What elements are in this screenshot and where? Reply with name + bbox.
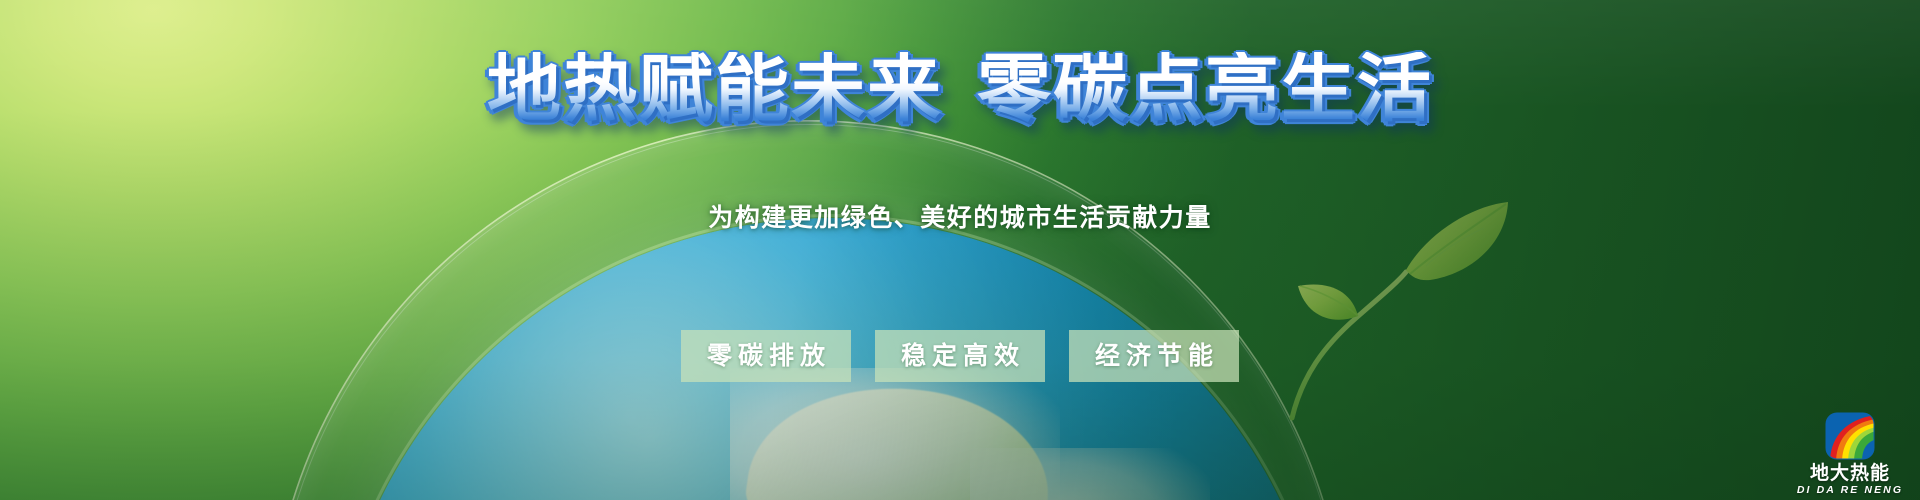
status-badge-economical-energy-saving[interactable]: 经济节能 [1069, 330, 1239, 382]
status-badge-zero-carbon[interactable]: 零碳排放 [681, 330, 851, 382]
status-badge-stable-efficient[interactable]: 稳定高效 [875, 330, 1045, 382]
page-title: 地热赋能未来零碳点亮生活 [0, 52, 1920, 126]
brand-name-en: DI DA RE NENG [1794, 484, 1906, 498]
sprout-seedling-icon [1240, 140, 1570, 440]
brand-name-cn: 地大热能 [1794, 464, 1906, 484]
headline-part-2: 零碳点亮生活 [977, 47, 1433, 130]
page-subtitle: 为构建更加绿色、美好的城市生活贡献力量 [0, 198, 1920, 234]
headline-part-1: 地热赋能未来 [487, 47, 943, 130]
brand-logo[interactable]: 地大热能 DI DA RE NENG [1794, 411, 1906, 498]
promo-banner: 地热赋能未来零碳点亮生活 为构建更加绿色、美好的城市生活贡献力量 零碳排放 稳定… [0, 0, 1920, 500]
didareneng-rainbow-square-logo-icon [1820, 411, 1880, 463]
feature-badge-list: 零碳排放 稳定高效 经济节能 [0, 330, 1920, 382]
